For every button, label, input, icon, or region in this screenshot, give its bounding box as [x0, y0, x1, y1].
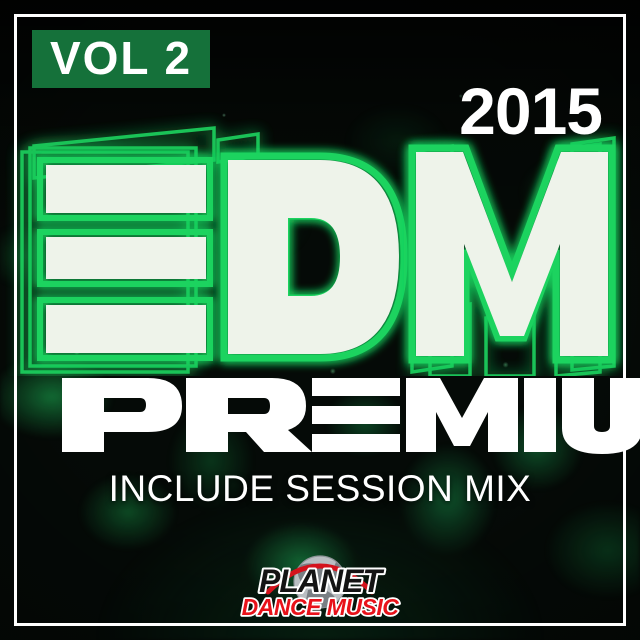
- volume-badge-label: VOL 2: [50, 36, 192, 82]
- year-label: 2015: [459, 78, 602, 142]
- logo-line2: DANCE MUSIC: [242, 594, 400, 620]
- edm-svg: [0, 104, 640, 376]
- volume-badge: VOL 2: [32, 30, 210, 88]
- logo-svg: PLANET DANCE MUSIC: [202, 552, 438, 620]
- edm-letter-m: [412, 148, 612, 360]
- premium-letters: [62, 378, 640, 454]
- planet-dance-music-logo: PLANET DANCE MUSIC: [202, 552, 438, 620]
- year-svg: 2015: [402, 78, 602, 142]
- edm-letter-e: [40, 160, 210, 358]
- year-text: 2015: [402, 78, 602, 142]
- edm-letter-d: [224, 156, 404, 358]
- premium-svg: [0, 372, 640, 458]
- main-title-edm: [0, 104, 640, 376]
- tagline-text: INCLUDE SESSION MIX: [0, 468, 640, 510]
- album-cover: VOL 2 2015: [0, 0, 640, 640]
- subtitle-premium: [0, 372, 640, 458]
- volume-badge-text: VOL 2: [41, 36, 201, 82]
